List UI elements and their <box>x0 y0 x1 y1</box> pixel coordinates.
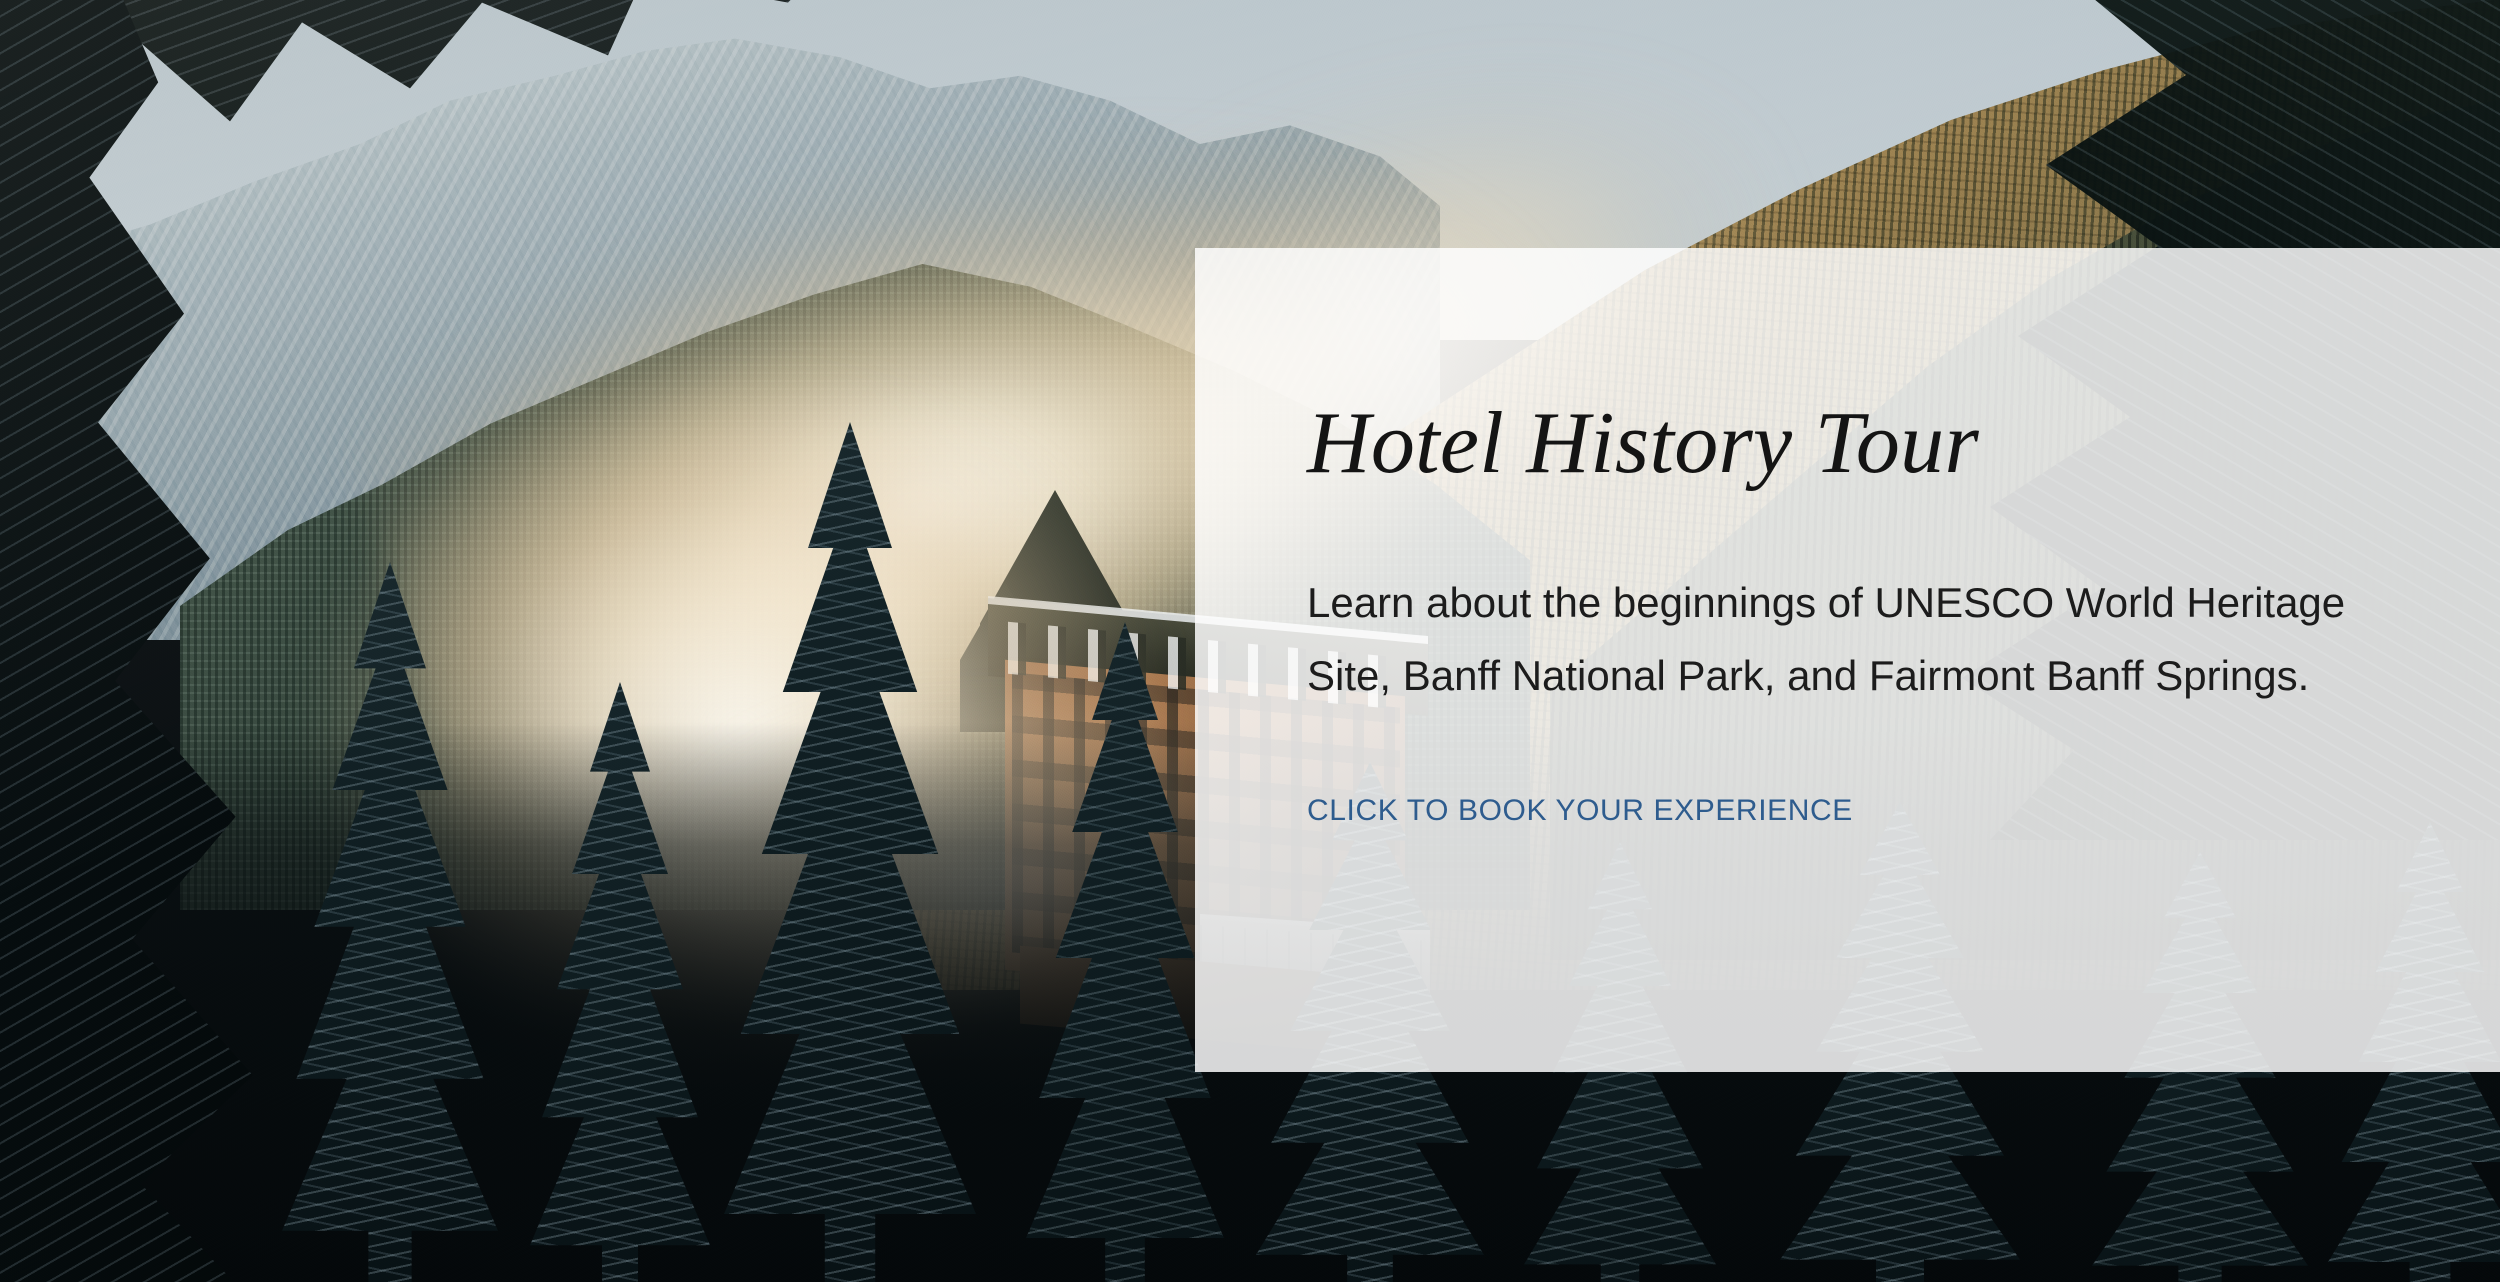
promo-content-panel: Hotel History Tour Learn about the begin… <box>1195 248 2500 1072</box>
page-title: Hotel History Tour <box>1307 400 2500 488</box>
hero-section: Hotel History Tour Learn about the begin… <box>0 0 2500 1282</box>
promo-description: Learn about the beginnings of UNESCO Wor… <box>1307 566 2387 712</box>
book-experience-link[interactable]: CLICK TO BOOK YOUR EXPERIENCE <box>1307 794 1853 828</box>
